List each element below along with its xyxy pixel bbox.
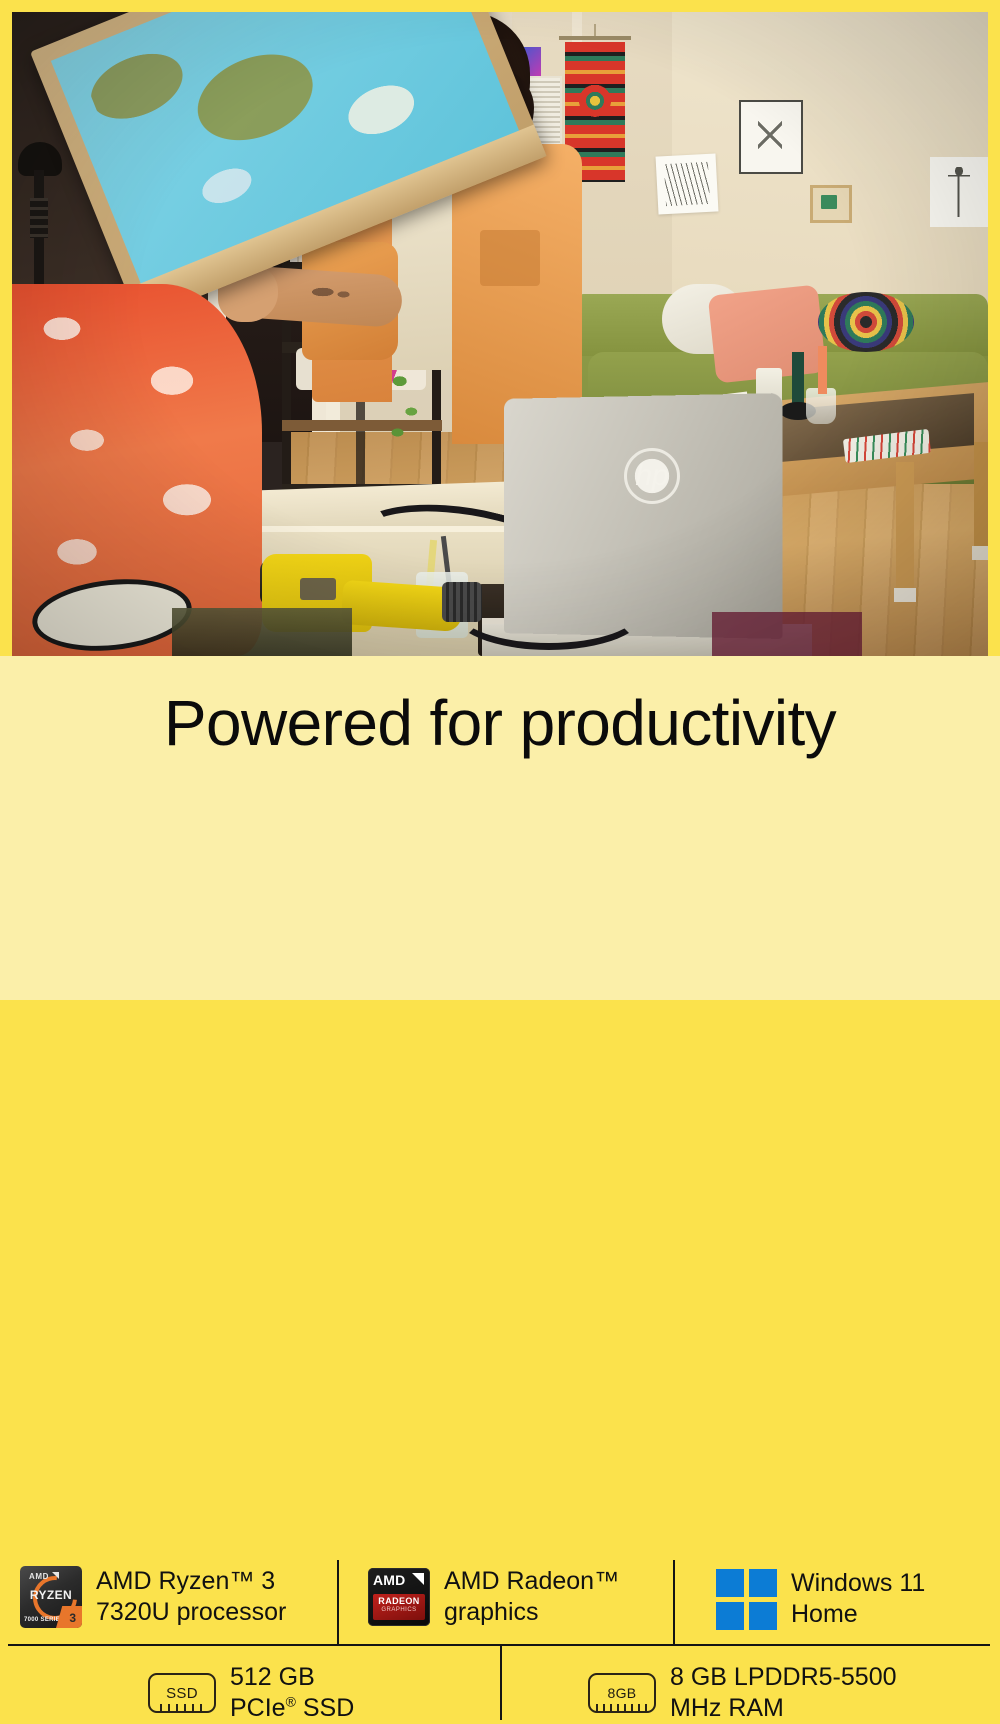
spec-graphics-line1: AMD Radeon™ [444,1567,619,1595]
radeon-badge-sub: GRAPHICS [373,1607,425,1613]
spec-storage-line2-pre: PCIe [230,1694,286,1722]
ssd-chip-icon: SSD [148,1673,216,1713]
spec-divider-vertical-3 [500,1646,502,1720]
windows-pane-1 [716,1569,744,1597]
page-title: Powered for productivity [0,686,1000,760]
windows-pane-4 [749,1602,777,1630]
spec-os-text: Windows 11Home [791,1568,925,1630]
ryzen-badge-brand: AMD [29,1572,49,1581]
spec-item-memory: 8GB 8 GB LPDDR5-5500MHz RAM [588,1662,897,1724]
photo-vignette [12,12,988,656]
ryzen-badge-family: RYZEN [20,1588,82,1602]
spec-graphics-text: AMD Radeon™graphics [444,1566,619,1628]
product-feature-card: hp Powered for productivity AMD RYZEN 70… [0,0,1000,1000]
spec-os-line1: Windows 11 [791,1569,925,1597]
spec-item-processor: AMD RYZEN 7000 SERIES 3 AMD Ryzen™ 37320… [20,1566,286,1628]
spec-memory-line1: 8 GB LPDDR5-5500 [670,1663,897,1691]
spec-item-graphics: AMD RADEON GRAPHICS AMD Radeon™graphics [368,1566,619,1628]
spec-item-os: Windows 11Home [716,1568,925,1630]
spec-divider-vertical-2 [673,1560,675,1644]
radeon-badge-family: RADEON [373,1596,425,1606]
ram-chip-icon: 8GB [588,1673,656,1713]
windows-pane-3 [716,1602,744,1630]
spec-item-storage: SSD 512 GBPCIe® SSD [148,1662,354,1724]
spec-graphics-line2: graphics [444,1598,539,1626]
spec-storage-text: 512 GBPCIe® SSD [230,1662,354,1724]
spec-storage-line1: 512 GB [230,1663,315,1691]
spec-grid: AMD RYZEN 7000 SERIES 3 AMD Ryzen™ 37320… [0,778,1000,968]
spec-processor-line2: 7320U processor [96,1598,286,1626]
spec-os-line2: Home [791,1600,858,1628]
amd-radeon-badge-icon: AMD RADEON GRAPHICS [368,1568,430,1626]
windows-logo-icon [716,1569,777,1630]
spec-divider-horizontal [8,1644,990,1646]
amd-arrow-icon [412,1573,424,1585]
hero-photo: hp [12,12,988,656]
ssd-chip-pins [160,1704,204,1712]
ssd-chip-label: SSD [166,1685,198,1702]
ram-chip-pins [596,1704,652,1712]
spec-storage-line2-post: SSD [296,1694,354,1722]
registered-mark-icon: ® [286,1694,296,1710]
spec-processor-text: AMD Ryzen™ 37320U processor [96,1566,286,1628]
amd-ryzen-badge-icon: AMD RYZEN 7000 SERIES 3 [20,1566,82,1628]
ram-chip-label: 8GB [608,1685,637,1701]
ryzen-badge-tier: 3 [69,1611,76,1625]
spec-divider-vertical-1 [337,1560,339,1644]
radeon-badge-band: RADEON GRAPHICS [373,1594,425,1620]
spec-processor-line1: AMD Ryzen™ 3 [96,1567,275,1595]
radeon-badge-brand: AMD [373,1572,405,1588]
spec-memory-text: 8 GB LPDDR5-5500MHz RAM [670,1662,897,1724]
spec-memory-line2: MHz RAM [670,1694,784,1722]
windows-pane-2 [749,1569,777,1597]
